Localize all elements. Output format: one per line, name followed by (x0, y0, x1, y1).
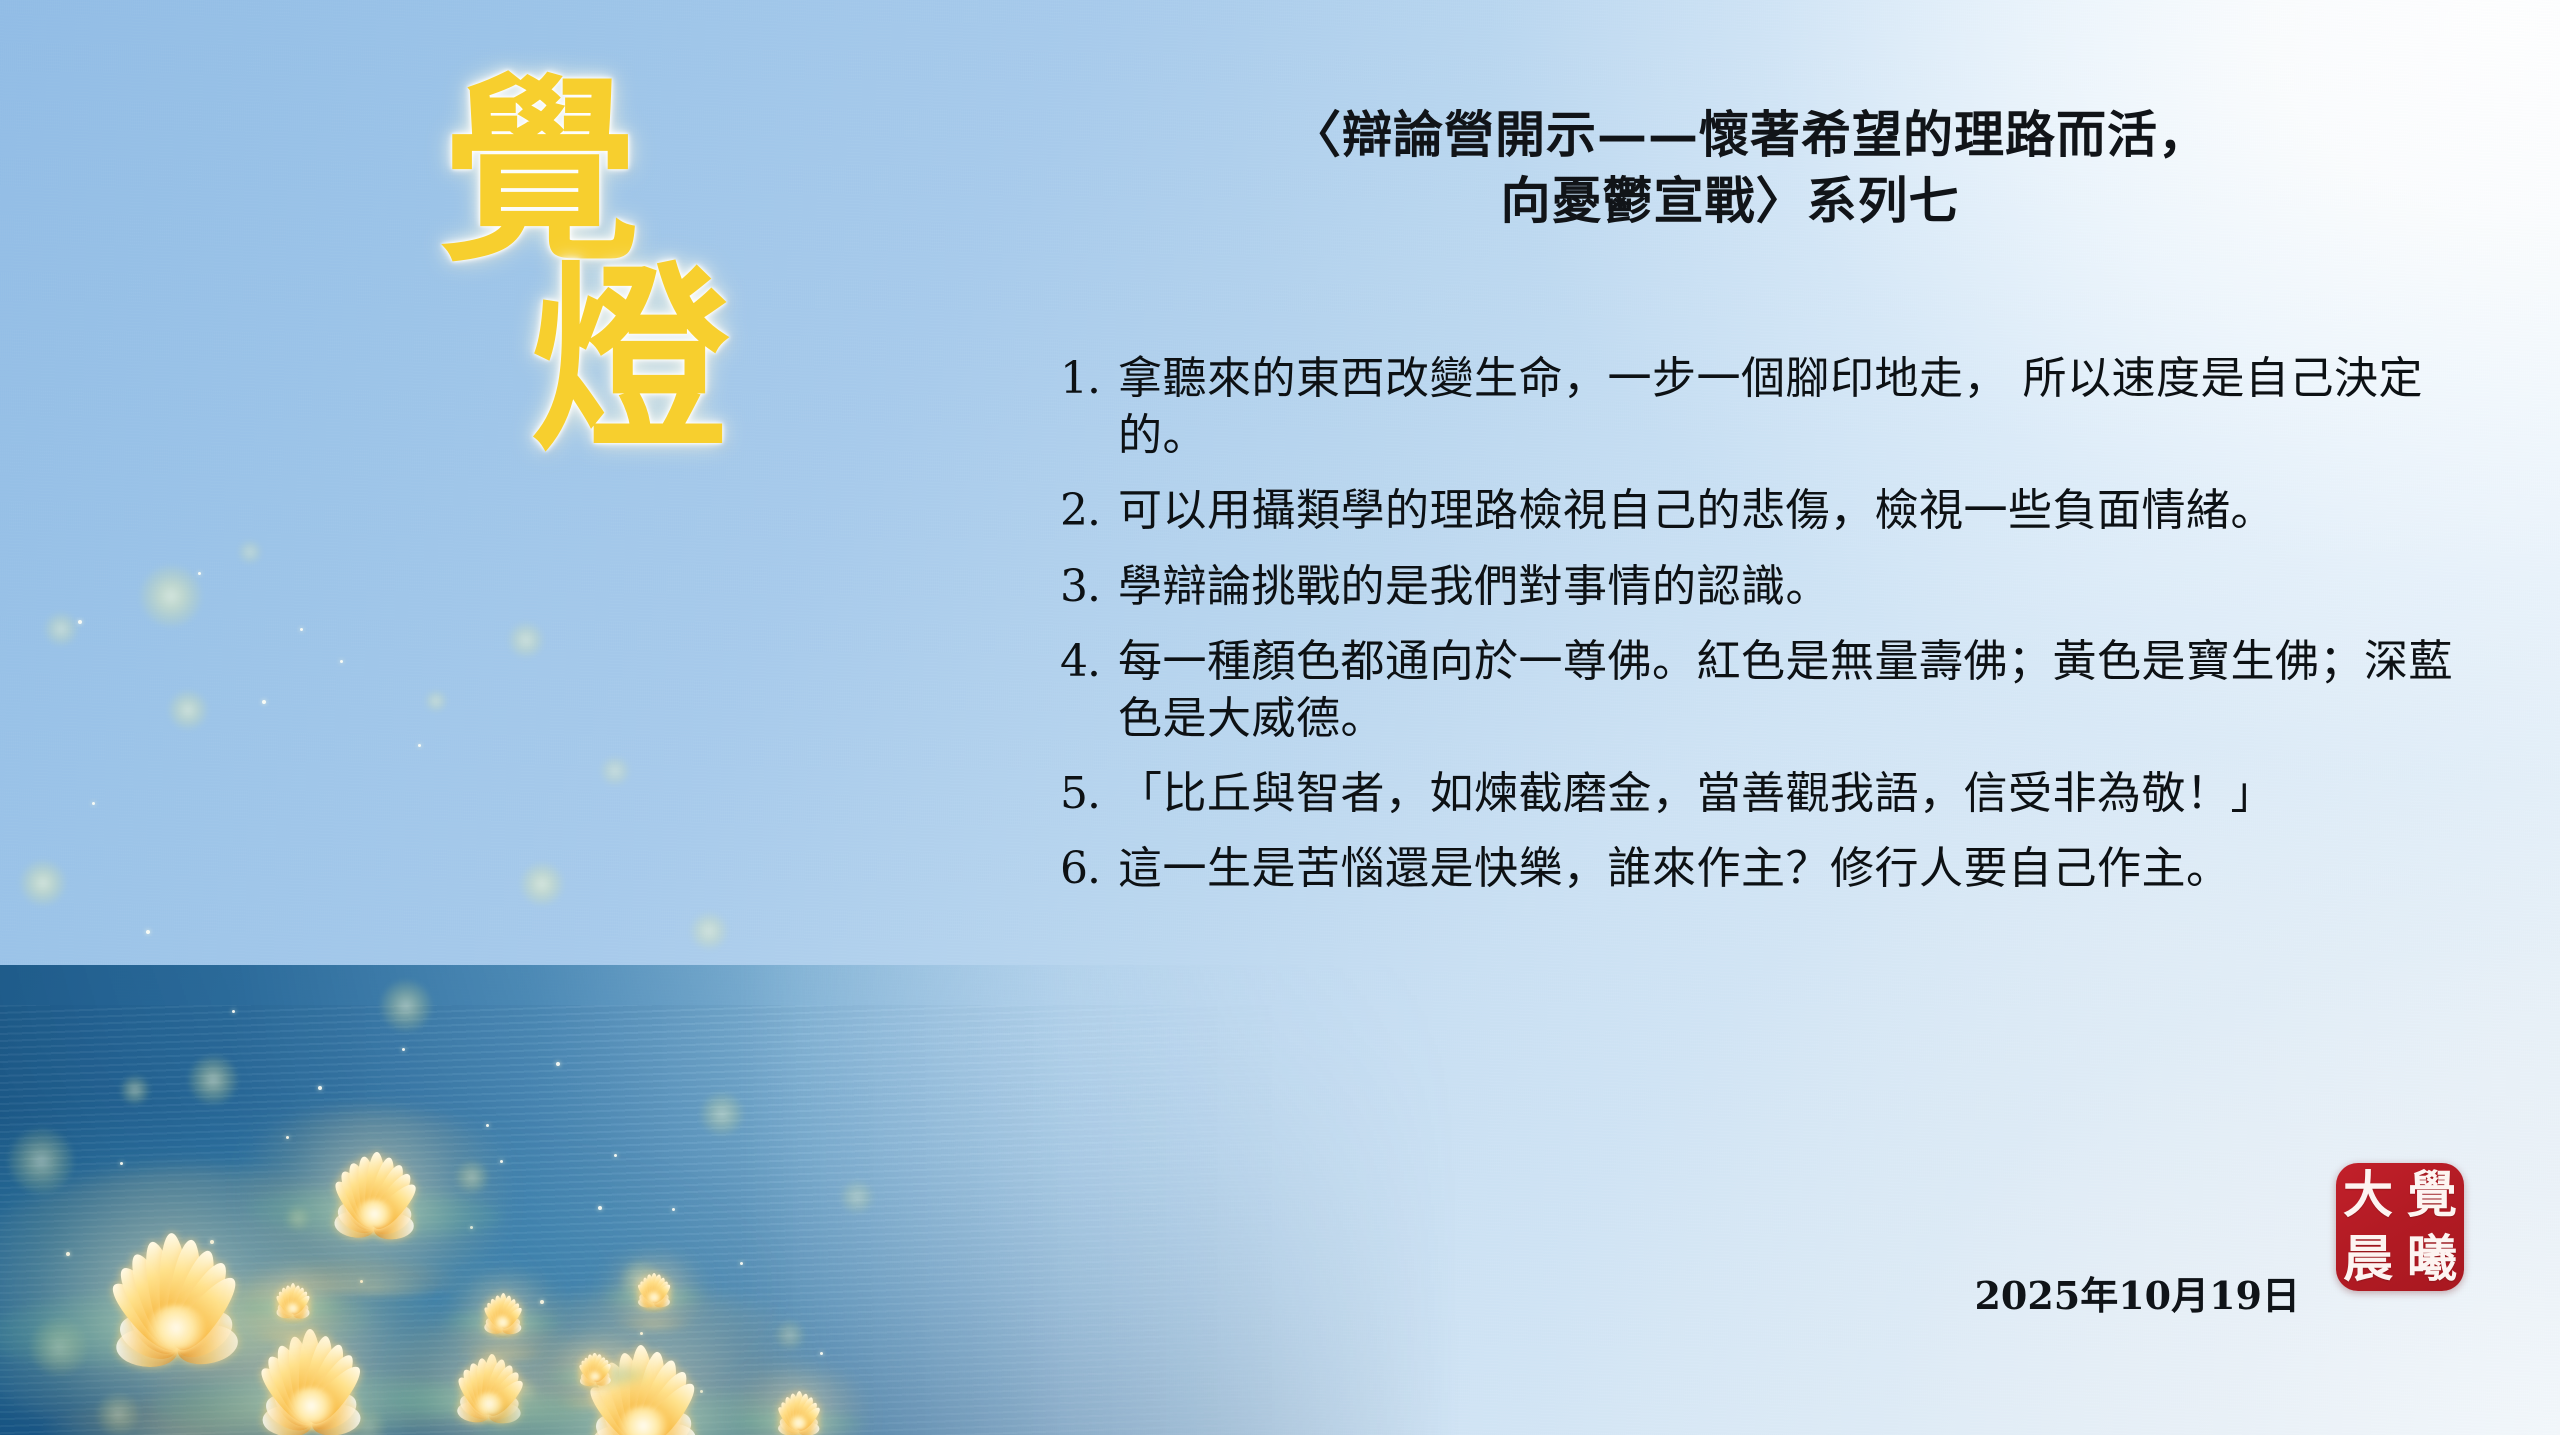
sparkle (402, 1048, 405, 1051)
bokeh-light (840, 1180, 874, 1214)
bokeh-light (238, 540, 262, 564)
teaching-point-text: 可以用攝類學的理路檢視自己的悲傷，檢視一些負面情緒。 (1118, 482, 2480, 539)
lotus-flower (468, 1287, 539, 1343)
seal-char-jue: 覺 (2400, 1163, 2464, 1227)
teaching-point-text: 學辯論挑戰的是我們對事情的認識。 (1118, 558, 2480, 615)
sparkle (120, 1162, 123, 1165)
lotus-flower (759, 1384, 838, 1435)
brand-character-jue: 覺 (440, 74, 640, 274)
sparkle (146, 930, 150, 934)
bokeh-light (188, 1055, 238, 1105)
sparkle (418, 744, 421, 747)
lotus-flower (565, 1347, 625, 1394)
teaching-point: 4.每一種顏色都通向於一尊佛。紅色是無量壽佛；黃色是寶生佛；深藍色是大威德。 (1060, 633, 2480, 747)
teaching-point-number: 3. (1060, 558, 1118, 615)
teaching-point-number: 4. (1060, 633, 1118, 690)
sparkle (198, 572, 201, 575)
bokeh-light (168, 690, 208, 730)
sparkle (262, 700, 266, 704)
sparkle (598, 1206, 602, 1210)
lotus-flower (262, 1278, 324, 1326)
bokeh-light (600, 756, 630, 786)
title-line-1: 〈辯論營開示——懷著希望的理路而活， (1040, 102, 2460, 168)
title-line-2: 向憂鬱宣戰〉系列七 (1040, 168, 2460, 234)
teaching-point: 1.拿聽來的東西改變生命，一步一個腳印地走， 所以速度是自己決定的。 (1060, 350, 2480, 464)
bokeh-light (44, 612, 78, 646)
teaching-point: 5.「比丘與智者，如煉截磨金，當善觀我語，信受非為敬！」 (1060, 765, 2480, 822)
sparkle (614, 1154, 617, 1157)
teaching-point: 3.學辯論挑戰的是我們對事情的認識。 (1060, 558, 2480, 615)
sparkle (232, 1010, 235, 1013)
lotus-reflection (256, 1326, 330, 1342)
poster-canvas: 覺 燈 〈辯論營開示——懷著希望的理路而活， 向憂鬱宣戰〉系列七 1.拿聽來的東… (0, 0, 2560, 1435)
teaching-point-number: 6. (1060, 840, 1118, 897)
bokeh-light (425, 690, 447, 712)
bokeh-light (700, 1092, 744, 1136)
lotus-core (285, 1302, 301, 1315)
lotus-core (646, 1291, 662, 1303)
teaching-point-text: 拿聽來的東西改變生命，一步一個腳印地走， 所以速度是自己決定的。 (1118, 350, 2480, 464)
teaching-point-number: 2. (1060, 482, 1118, 539)
red-seal-stamp: 大 覺 晨 曦 (2336, 1163, 2464, 1291)
lotus-core (286, 1387, 335, 1425)
sparkle (340, 660, 343, 663)
teaching-point-text: 每一種顏色都通向於一尊佛。紅色是無量壽佛；黃色是寶生佛；深藍色是大威德。 (1118, 633, 2480, 747)
sparkle (486, 1124, 489, 1127)
bokeh-light (140, 565, 202, 627)
publication-date: 2025年10月19日 (1974, 1265, 2300, 1320)
sparkle (92, 802, 95, 805)
teaching-point: 2.可以用攝類學的理路檢視自己的悲傷，檢視一些負面情緒。 (1060, 482, 2480, 539)
sparkle (672, 1208, 675, 1211)
lotus-flower (298, 1137, 452, 1259)
seal-char-da: 大 (2336, 1163, 2400, 1227)
teaching-points-list: 1.拿聽來的東西改變生命，一步一個腳印地走， 所以速度是自己決定的。2.可以用攝… (1060, 350, 2480, 916)
seal-char-xi: 曦 (2400, 1227, 2464, 1291)
bokeh-light (690, 912, 728, 950)
content-column: 〈辯論營開示——懷著希望的理路而活， 向憂鬱宣戰〉系列七 1.拿聽來的東西改變生… (1040, 0, 2480, 1435)
sparkle (78, 620, 82, 624)
teaching-point-text: 「比丘與智者，如煉截磨金，當善觀我語，信受非為敬！」 (1118, 765, 2480, 822)
sparkle (318, 1086, 322, 1090)
sparkle (740, 1262, 743, 1265)
teaching-point-number: 1. (1060, 350, 1118, 407)
seal-char-chen: 晨 (2336, 1227, 2400, 1291)
page-title: 〈辯論營開示——懷著希望的理路而活， 向憂鬱宣戰〉系列七 (1040, 102, 2460, 234)
teaching-point-text: 這一生是苦惱還是快樂，誰來作主？修行人要自己作主。 (1118, 840, 2480, 897)
lotus-core (789, 1415, 810, 1431)
bokeh-light (120, 1075, 150, 1105)
bokeh-light (520, 862, 564, 906)
bokeh-light (20, 860, 66, 906)
teaching-point-number: 5. (1060, 765, 1118, 822)
bokeh-light (508, 622, 544, 658)
lotus-flower (624, 1268, 684, 1315)
bokeh-light (380, 980, 432, 1032)
brand-character-deng: 燈 (530, 262, 730, 462)
sparkle (300, 628, 303, 631)
teaching-point: 6.這一生是苦惱還是快樂，誰來作主？修行人要自己作主。 (1060, 840, 2480, 897)
sparkle (556, 1062, 560, 1066)
